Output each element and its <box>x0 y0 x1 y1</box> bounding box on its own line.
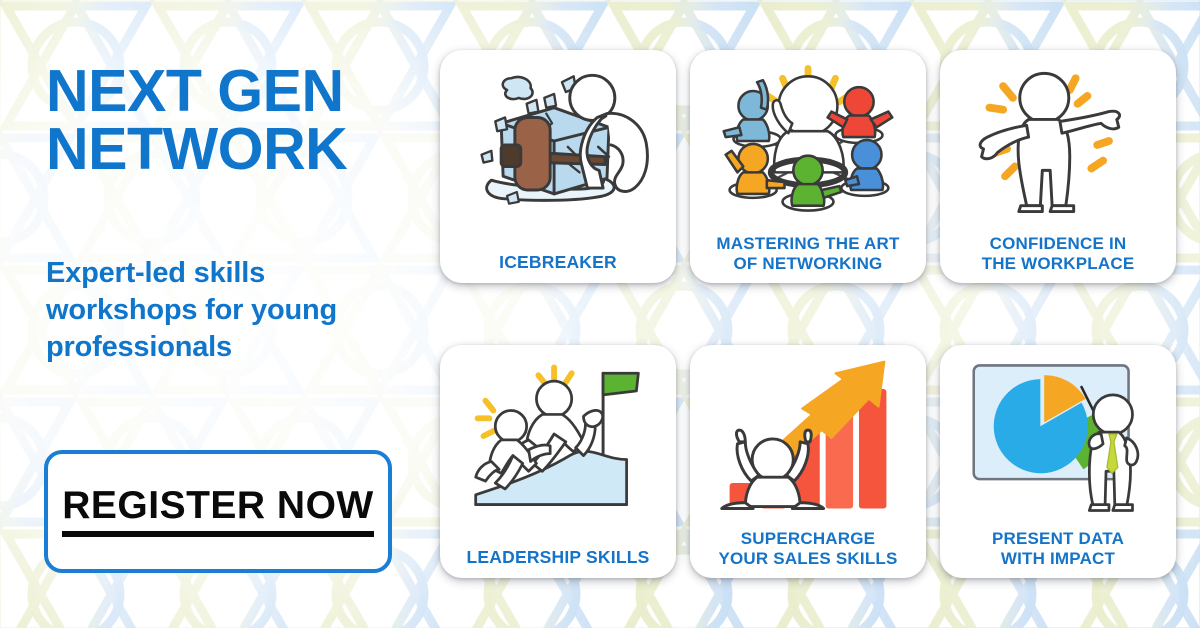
network-of-people-icon <box>698 58 918 224</box>
card-title-line: ICEBREAKER <box>499 252 617 272</box>
card-title-leadership-skills: LEADERSHIP SKILLS <box>467 548 650 572</box>
register-button-inner: REGISTER NOW <box>62 486 374 538</box>
card-title-line: CONFIDENCE IN <box>990 234 1127 253</box>
register-now-button[interactable]: REGISTER NOW <box>44 450 392 573</box>
register-button-underline <box>62 531 374 537</box>
card-title-line: SUPERCHARGE <box>741 529 875 548</box>
pie-chart-presentation-icon <box>948 353 1168 519</box>
card-title-mastering-the-art-of-networking: MASTERING THE ART OF NETWORKING <box>716 234 899 277</box>
hero-panel: NEXT GEN NETWORK Expert-led skills works… <box>0 0 432 628</box>
workshop-card-leadership-skills[interactable]: LEADERSHIP SKILLS <box>440 345 676 578</box>
card-title-present-data-with-impact: PRESENT DATA WITH IMPACT <box>992 529 1124 572</box>
card-title-line: LEADERSHIP SKILLS <box>467 547 650 567</box>
card-title-line: OF NETWORKING <box>734 254 883 273</box>
workshop-card-confidence-in-the-workplace[interactable]: CONFIDENCE IN THE WORKPLACE <box>940 50 1176 283</box>
headline-line-1: NEXT GEN <box>46 58 344 124</box>
ice-cube-hammer-icon <box>448 58 668 224</box>
card-title-icebreaker: ICEBREAKER <box>499 253 617 277</box>
workshop-card-supercharge-your-sales-skills[interactable]: SUPERCHARGE YOUR SALES SKILLS <box>690 345 926 578</box>
confident-person-icon <box>948 58 1168 224</box>
card-title-line: MASTERING THE ART <box>716 234 899 253</box>
workshop-card-present-data-with-impact[interactable]: PRESENT DATA WITH IMPACT <box>940 345 1176 578</box>
card-title-line: THE WORKPLACE <box>982 254 1135 273</box>
workshop-card-mastering-the-art-of-networking[interactable]: MASTERING THE ART OF NETWORKING <box>690 50 926 283</box>
card-title-line: PRESENT DATA <box>992 529 1124 548</box>
workshop-card-grid: ICEBREAKER <box>440 50 1180 578</box>
page-title: NEXT GEN NETWORK <box>46 63 426 179</box>
rising-bar-chart-lightning-icon <box>698 353 918 519</box>
headline-line-2: NETWORK <box>46 121 426 179</box>
climbing-hill-to-flag-icon <box>448 353 668 519</box>
card-title-confidence-in-the-workplace: CONFIDENCE IN THE WORKPLACE <box>982 234 1135 277</box>
card-title-supercharge-your-sales-skills: SUPERCHARGE YOUR SALES SKILLS <box>718 529 897 572</box>
card-title-line: WITH IMPACT <box>1001 549 1115 568</box>
subheadline: Expert-led skills workshops for young pr… <box>46 255 406 366</box>
register-button-label: REGISTER NOW <box>62 486 374 527</box>
workshop-card-icebreaker[interactable]: ICEBREAKER <box>440 50 676 283</box>
card-title-line: YOUR SALES SKILLS <box>718 549 897 568</box>
